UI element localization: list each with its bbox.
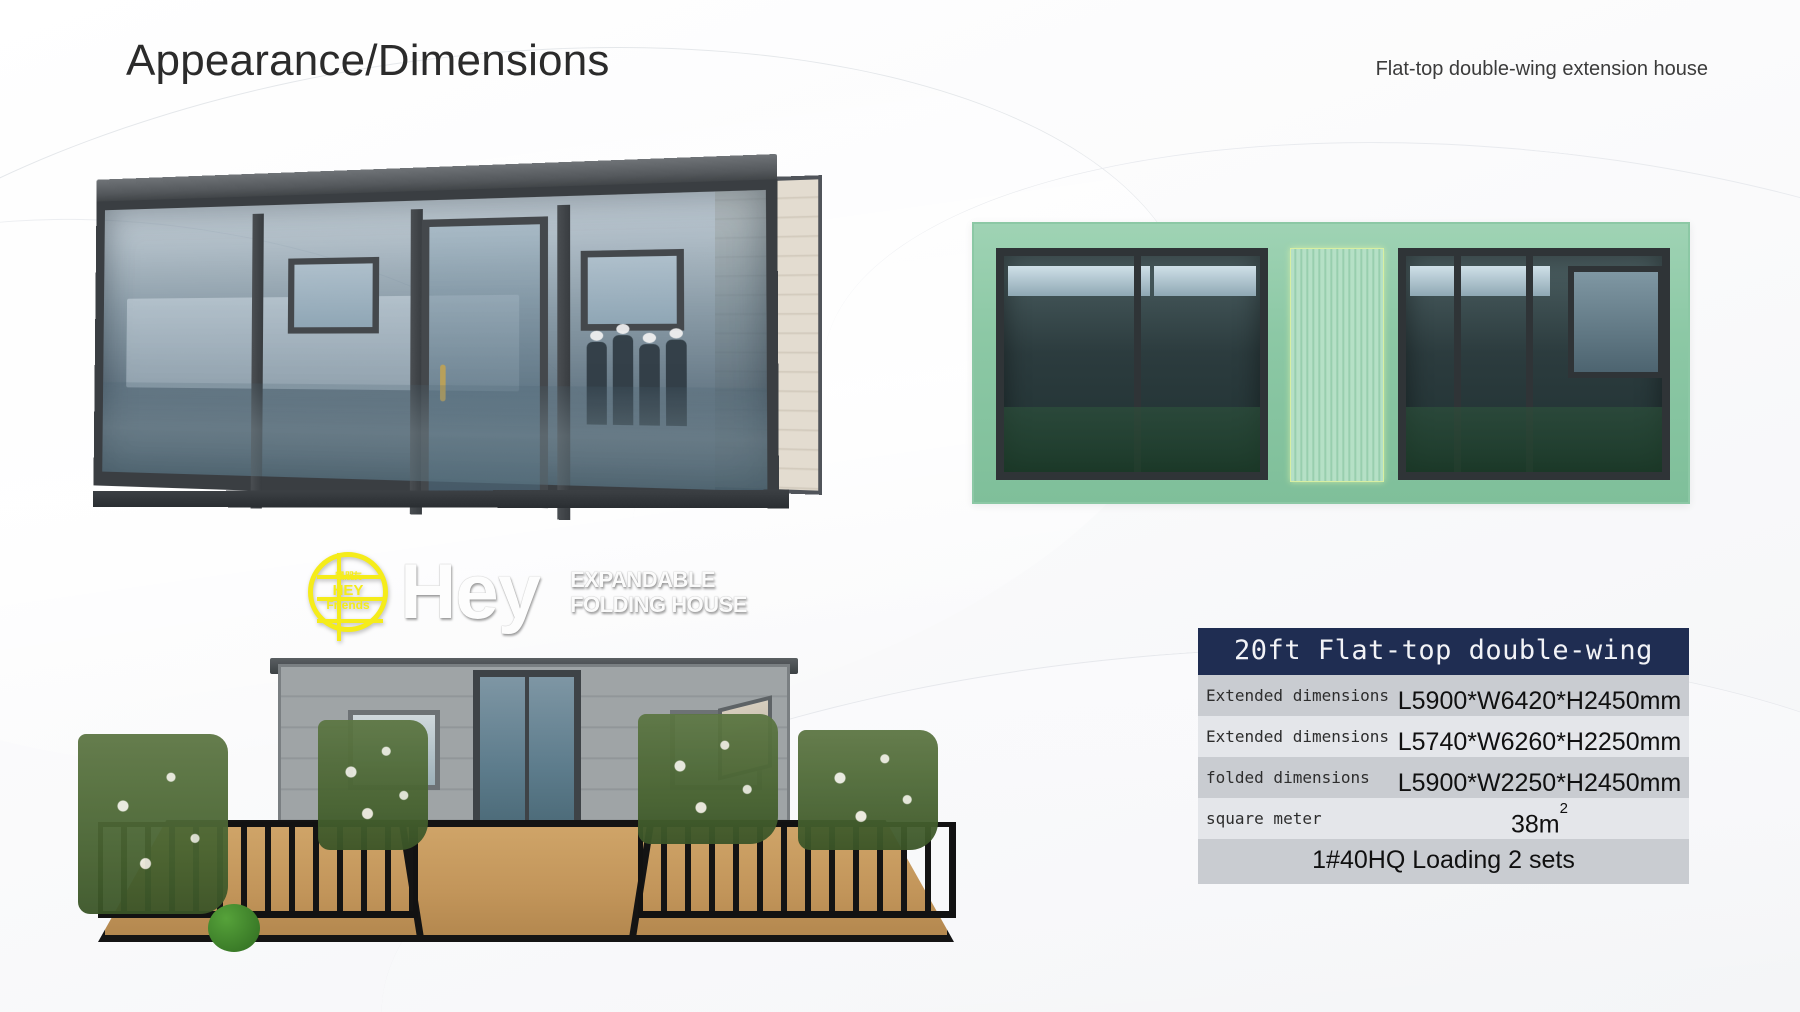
badge-chinese-label: 嘿 朋友 — [335, 572, 361, 581]
transom-window — [581, 249, 684, 331]
table-row: Extended dimensions L5740*W6260*H2250mm — [1198, 716, 1689, 757]
house-front-body — [93, 170, 779, 517]
green-house-right-glazing — [1398, 248, 1670, 480]
transom-window — [288, 257, 379, 334]
spec-label: Extended dimensions — [1198, 686, 1390, 705]
spec-label: square meter — [1198, 809, 1390, 828]
spec-table-footer: 1#40HQ Loading 2 sets — [1198, 839, 1689, 884]
brand-wordmark: Hey — [400, 556, 540, 628]
table-row: square meter 38m2 — [1198, 798, 1689, 839]
photo-dark-glass-house — [85, 185, 785, 525]
photo-green-facade-house — [972, 222, 1690, 504]
spec-value-number: 38m — [1511, 810, 1560, 838]
person-figure — [639, 344, 660, 426]
interior-floor — [1406, 407, 1662, 472]
flower-planter — [318, 720, 428, 850]
brand-tagline: EXPANDABLE FOLDING HOUSE — [570, 567, 747, 618]
window-mullion — [251, 214, 264, 509]
table-row: Extended dimensions L5900*W6420*H2450mm — [1198, 675, 1689, 716]
people-reflection — [587, 326, 733, 427]
topiary-ball — [208, 904, 260, 952]
badge-friends-label: Friends — [326, 599, 369, 612]
entry-door — [421, 216, 548, 508]
flower-planter — [78, 734, 228, 914]
table-row: folded dimensions L5900*W2250*H2450mm — [1198, 757, 1689, 798]
spec-value: L5900*W2250*H2450mm — [1390, 769, 1689, 798]
spec-value-area: 38m2 — [1390, 810, 1689, 839]
flower-planter — [798, 730, 938, 850]
door-handle — [440, 365, 446, 402]
house-glass-wall — [93, 179, 779, 508]
badge-hey-label: HEY — [333, 583, 364, 599]
page-title: Appearance/Dimensions — [126, 36, 610, 86]
house-base-rail — [93, 490, 789, 509]
ribbed-centre-panel — [1290, 248, 1384, 482]
brand-tagline-line-1: EXPANDABLE — [570, 567, 747, 592]
person-figure — [613, 335, 634, 425]
person-figure — [587, 342, 607, 425]
interior-floor — [1004, 407, 1260, 472]
spec-value: L5900*W6420*H2450mm — [1390, 687, 1689, 716]
green-house-left-glazing — [996, 248, 1268, 480]
brand-watermark: 嘿 朋友 HEY Friends Hey EXPANDABLE FOLDING … — [308, 552, 747, 632]
person-figure — [666, 340, 687, 427]
spec-label: folded dimensions — [1198, 768, 1390, 787]
specification-table: 20ft Flat-top double-wing Extended dimen… — [1198, 628, 1689, 884]
spec-table-header: 20ft Flat-top double-wing — [1198, 628, 1689, 675]
brand-tagline-line-2: FOLDING HOUSE — [570, 592, 747, 617]
photo-grey-house-with-deck — [78, 640, 978, 970]
spec-value: L5740*W6260*H2250mm — [1390, 728, 1689, 757]
flower-planter — [638, 714, 778, 844]
slide-canvas: Appearance/Dimensions Flat-top double-wi… — [0, 0, 1800, 1012]
spec-value-superscript: 2 — [1560, 800, 1568, 817]
awning-sash-window — [1568, 266, 1664, 378]
spec-label: Extended dimensions — [1198, 727, 1390, 746]
window-mullion — [557, 205, 570, 520]
top-light — [1154, 266, 1256, 296]
page-subtitle: Flat-top double-wing extension house — [1376, 58, 1708, 81]
top-light — [1008, 266, 1150, 296]
hey-friends-badge-icon: 嘿 朋友 HEY Friends — [308, 552, 388, 632]
